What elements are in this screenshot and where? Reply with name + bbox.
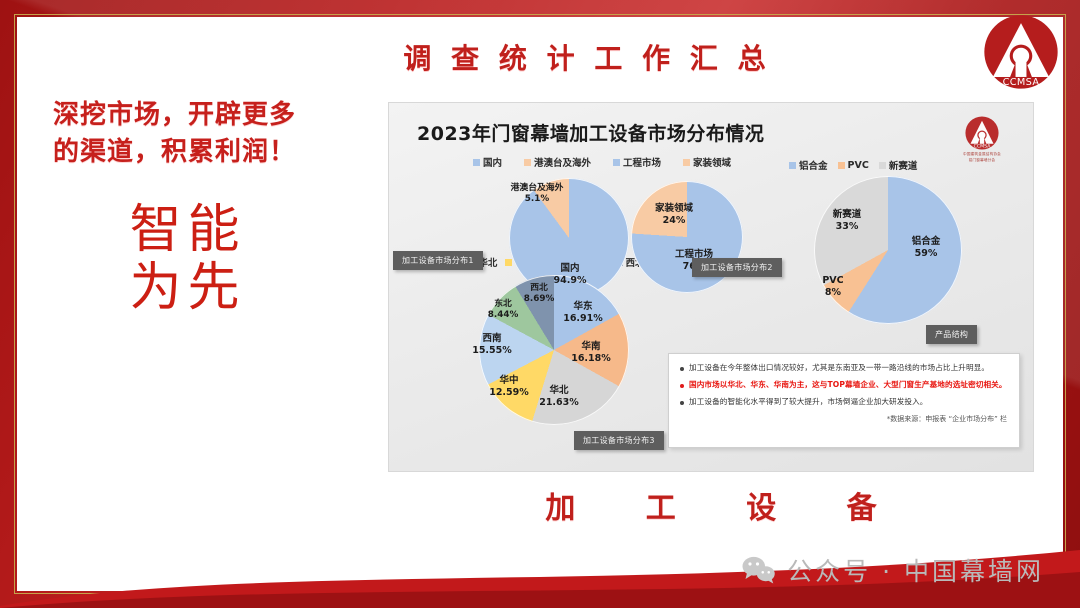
legend-label: PVC [848, 160, 869, 171]
pie-slice-label: 铝合金 59% [897, 236, 955, 259]
slice-name: 华中 [499, 375, 518, 386]
legend-label: 铝合金 [799, 158, 828, 172]
pie-slice-label: PVC 8% [813, 275, 853, 298]
lead-line-2: 的渠道，积累利润！ [53, 134, 380, 171]
chart-title: 2023年门窗幕墙加工设备市场分布情况 [417, 119, 764, 146]
slide-background: 调 查 统 计 工 作 汇 总 深挖市场，开辟更多 的渠道，积累利润！ 智能 为… [0, 0, 1080, 608]
slice-value: 8% [825, 287, 841, 298]
legend-swatch [789, 162, 796, 169]
note-item: 加工设备在今年整体出口情况较好，尤其是东南亚及一带一路沿线的市场占比上升明显。 [680, 363, 1007, 373]
slice-name: 港澳台及海外 [511, 183, 564, 193]
wechat-icon [741, 555, 777, 585]
lead-text: 深挖市场，开辟更多 的渠道，积累利润！ [35, 97, 380, 171]
slice-value: 21.63% [539, 397, 579, 408]
callout-tag-3[interactable]: 加工设备市场分布3 [574, 431, 664, 450]
slice-name: 东北 [494, 299, 512, 309]
slice-value: 33% [836, 221, 859, 232]
callout-tag-4[interactable]: 产品结构 [926, 325, 977, 344]
slice-name: 新赛道 [833, 209, 862, 220]
callout-tag-1[interactable]: 加工设备市场分布1 [393, 251, 483, 270]
slice-name: PVC [822, 275, 843, 286]
slice-value: 12.59% [489, 387, 529, 398]
bullet-icon [680, 384, 684, 388]
slice-value: 59% [915, 248, 938, 259]
ccmsa-logo-icon: CCMSA [982, 13, 1060, 91]
slice-value: 24% [663, 215, 686, 226]
callout-tag-2[interactable]: 加工设备市场分布2 [692, 258, 782, 277]
legend-item: 新赛道 [879, 158, 918, 172]
legend-swatch [505, 259, 512, 266]
pie-slice-label: 华南 16.18% [567, 341, 615, 364]
slice-name: 铝合金 [912, 236, 941, 247]
slice-name: 华南 [581, 341, 600, 352]
pie-slice-label: 华东 16.91% [559, 301, 607, 324]
slice-name: 华东 [573, 301, 592, 312]
pie-slice-label: 港澳台及海外 5.1% [507, 183, 567, 204]
slice-value: 16.91% [563, 313, 603, 324]
left-text-panel: 深挖市场，开辟更多 的渠道，积累利润！ 智能 为先 [35, 97, 380, 317]
note-text: 加工设备的智能化水平得到了较大提升，市场倒逼企业加大研发投入。 [689, 397, 928, 407]
legend-swatch [613, 159, 620, 166]
pie-slice-label: 华中 12.59% [485, 375, 533, 398]
svg-text:CCMSA: CCMSA [974, 143, 992, 149]
legend-label: 家装领域 [693, 155, 731, 169]
legend-item: 工程市场 [613, 155, 661, 169]
slogan: 智能 为先 [35, 201, 380, 317]
slice-name: 国内 [560, 263, 579, 274]
legend-label: 新赛道 [889, 158, 918, 172]
bullet-icon [680, 401, 684, 405]
legend-label: 国内 [483, 155, 502, 169]
watermark-line-2: 铝门窗幕墙分会 [953, 158, 1011, 163]
chart-image-card: 2023年门窗幕墙加工设备市场分布情况 CCMSA 中国建筑金属结构协会 铝门窗… [388, 102, 1034, 472]
legend-label: 工程市场 [623, 155, 661, 169]
legend-swatch [838, 162, 845, 169]
pie-slice-label: 西南 15.55% [467, 333, 517, 356]
legend-swatch [683, 159, 690, 166]
footer: 公众号 · 中国幕墙网 [741, 552, 1044, 588]
legend-product-structure: 铝合金 PVC 新赛道 [789, 158, 917, 172]
slice-value: 16.18% [571, 353, 611, 364]
slice-name: 西南 [482, 333, 501, 344]
slice-value: 8.44% [488, 310, 519, 320]
legend-swatch [524, 159, 531, 166]
watermark-line-1: 中国建筑金属结构协会 [953, 152, 1011, 157]
legend-item: 港澳台及海外 [524, 155, 591, 169]
pie-slice-label: 新赛道 33% [821, 209, 873, 232]
legend-item: PVC [838, 160, 869, 171]
chart-watermark-logo: CCMSA 中国建筑金属结构协会 铝门窗幕墙分会 [953, 115, 1011, 163]
slice-name: 华北 [549, 385, 568, 396]
notes-box: 加工设备在今年整体出口情况较好，尤其是东南亚及一带一路沿线的市场占比上升明显。 … [668, 353, 1020, 448]
slice-value: 5.1% [525, 194, 549, 204]
note-text: 国内市场以华北、华东、华南为主，这与TOP幕墙企业、大型门窗生产基地的选址密切相… [689, 380, 1007, 390]
legend-domestic-overseas: 国内 港澳台及海外 工程市场 家装领域 [473, 155, 731, 169]
slice-name: 家装领域 [655, 203, 693, 214]
ccmsa-logo-small-icon: CCMSA [964, 115, 1000, 151]
slogan-line-1: 智能 [35, 201, 340, 259]
data-source-note: *数据来源：申报表 “企业市场分布” 栏 [680, 414, 1007, 424]
pie-slice-label: 家装领域 24% [641, 203, 707, 226]
footer-text: 公众号 · 中国幕墙网 [787, 552, 1044, 588]
slice-value: 8.69% [524, 294, 555, 304]
slogan-line-2: 为先 [35, 259, 340, 317]
lead-line-1: 深挖市场，开辟更多 [53, 97, 380, 134]
legend-item: 国内 [473, 155, 502, 169]
note-item: 国内市场以华北、华东、华南为主，这与TOP幕墙企业、大型门窗生产基地的选址密切相… [680, 380, 1007, 390]
slide-white-page: 调 查 统 计 工 作 汇 总 深挖市场，开辟更多 的渠道，积累利润！ 智能 为… [17, 17, 1063, 591]
slice-value: 15.55% [472, 345, 512, 356]
note-text: 加工设备在今年整体出口情况较好，尤其是东南亚及一带一路沿线的市场占比上升明显。 [689, 363, 989, 373]
legend-swatch [879, 162, 886, 169]
legend-item: 铝合金 [789, 158, 828, 172]
svg-text:CCMSA: CCMSA [1003, 77, 1040, 88]
slide-header: 调 查 统 计 工 作 汇 总 [17, 17, 1063, 89]
ccmsa-logo-badge: CCMSA [982, 13, 1060, 91]
pie-slice-label: 西北 8.69% [517, 283, 561, 304]
pie-slice-label: 华北 21.63% [535, 385, 583, 408]
bullet-icon [680, 367, 684, 371]
slice-name: 西北 [530, 283, 548, 293]
section-label: 加 工 设 备 [388, 483, 1034, 527]
note-item: 加工设备的智能化水平得到了较大提升，市场倒逼企业加大研发投入。 [680, 397, 1007, 407]
legend-label: 港澳台及海外 [534, 155, 591, 169]
legend-item: 家装领域 [683, 155, 731, 169]
legend-swatch [473, 159, 480, 166]
page-title: 调 查 统 计 工 作 汇 总 [377, 37, 797, 77]
